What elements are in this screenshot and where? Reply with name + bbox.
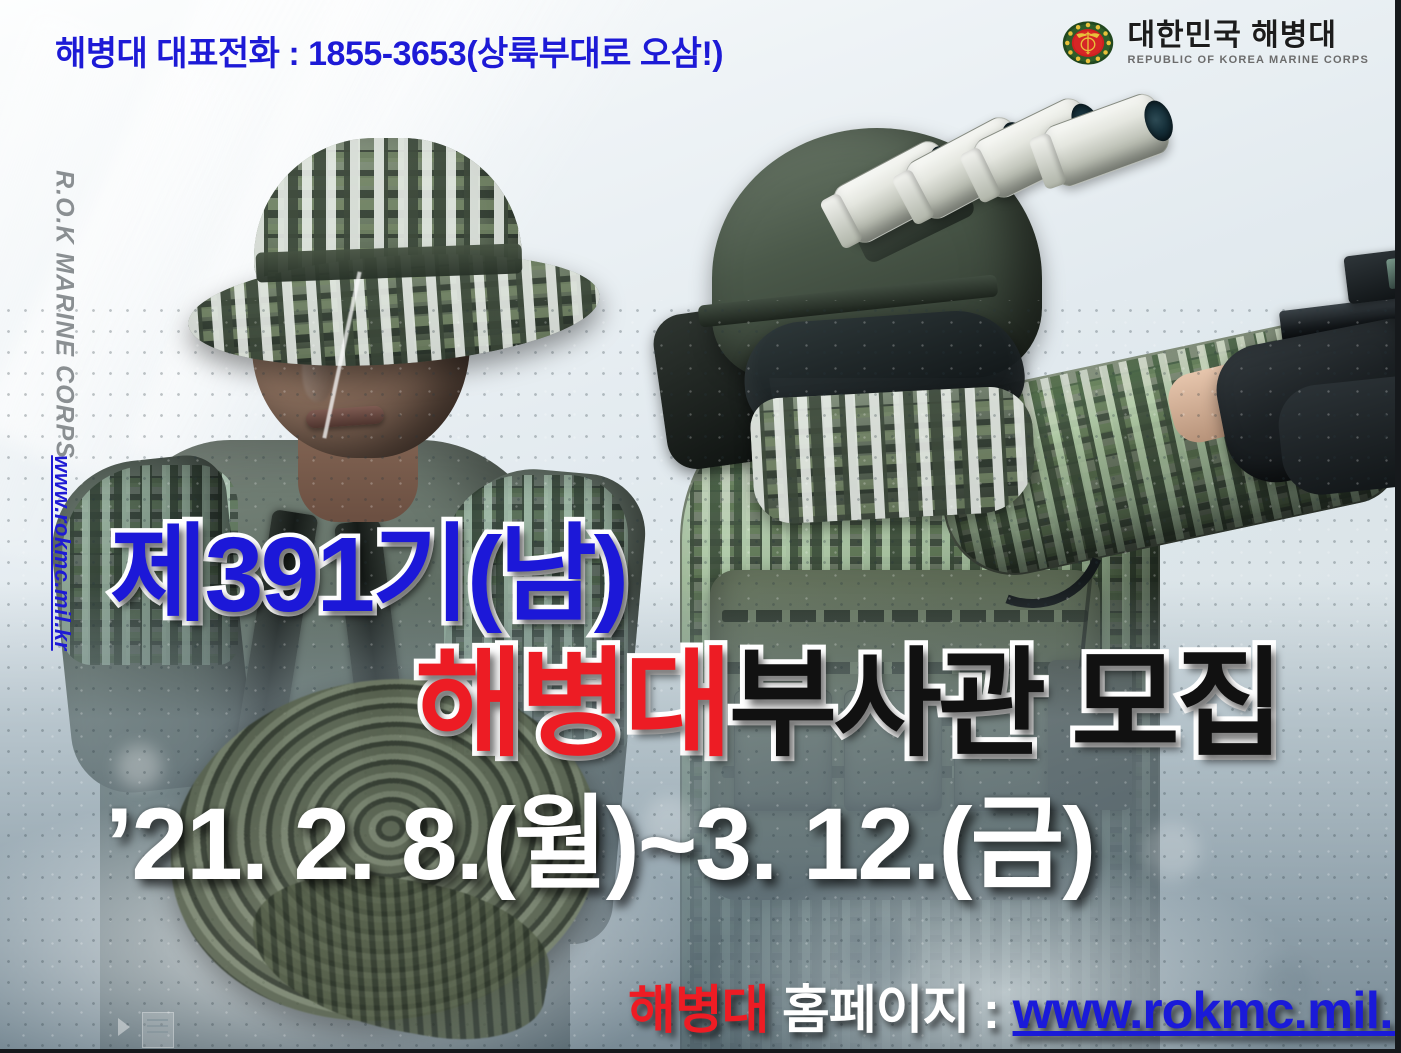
homepage-label-red: 해병대 [628,982,769,1040]
recruitment-poster: 해병대 대표전화 : 1855-3653(상륙부대로 오삼!) [0,0,1401,1053]
document-icon [142,1012,174,1048]
homepage-label-white: 홈페이지 : [782,982,999,1040]
brand-text: 대한민국 해병대 REPUBLIC OF KOREA MARINE CORPS [1127,21,1369,66]
side-vertical-url[interactable]: www.rokmc.mil.kr [49,433,75,673]
brand-name-kr: 대한민국 해병대 [1127,21,1369,51]
phone-line: 해병대 대표전화 : 1855-3653(상륙부대로 오삼!) [55,26,723,75]
brand-name-en: REPUBLIC OF KOREA MARINE CORPS [1127,55,1369,66]
play-arrow-icon [118,1018,130,1036]
brand-lockup: 대한민국 해병대 REPUBLIC OF KOREA MARINE CORPS [1061,18,1369,68]
marine-corps-emblem-icon [1061,18,1115,68]
side-vertical-rokmc-text: R.O.K MARINE CORPS [50,155,79,475]
red-dot-optic [1343,248,1401,305]
homepage-line: 해병대 홈페이지 : www.rokmc.mil.kr [628,968,1401,1043]
homepage-url-link[interactable]: www.rokmc.mil.kr [1013,982,1401,1040]
